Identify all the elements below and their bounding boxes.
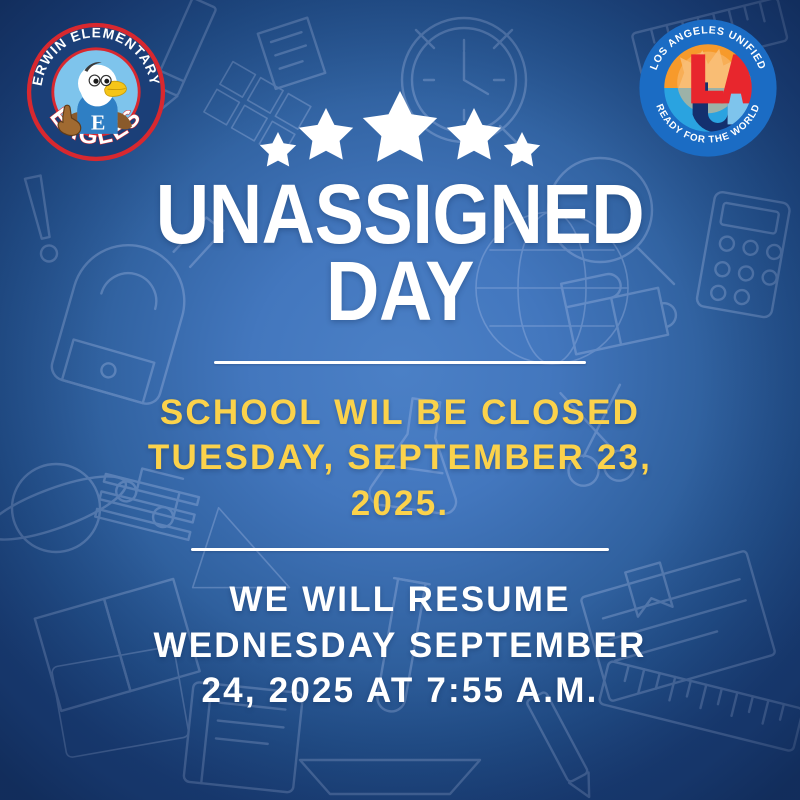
headline-line-2: DAY bbox=[80, 253, 721, 330]
announcement-content: UNASSIGNED DAY SCHOOL WIL BE CLOSED TUES… bbox=[0, 176, 800, 714]
resume-line-3: 24, 2025 AT 7:55 A.M. bbox=[44, 668, 756, 714]
divider-bottom bbox=[191, 548, 609, 551]
closure-notice: SCHOOL WIL BE CLOSED TUESDAY, SEPTEMBER … bbox=[36, 390, 764, 527]
closure-line-3: 2025. bbox=[50, 481, 750, 527]
resume-line-1: WE WILL RESUME bbox=[44, 577, 756, 623]
page-title: UNASSIGNED DAY bbox=[80, 176, 721, 331]
five-stars-icon bbox=[0, 88, 800, 174]
closure-line-1: SCHOOL WIL BE CLOSED bbox=[50, 390, 750, 436]
resume-notice: WE WILL RESUME WEDNESDAY SEPTEMBER 24, 2… bbox=[36, 577, 764, 714]
resume-line-2: WEDNESDAY SEPTEMBER bbox=[44, 623, 756, 669]
divider-top bbox=[214, 361, 586, 364]
closure-line-2: TUESDAY, SEPTEMBER 23, bbox=[50, 435, 750, 481]
announcement-poster: ERWIN ELEMENTARY EAGLES bbox=[0, 0, 800, 800]
